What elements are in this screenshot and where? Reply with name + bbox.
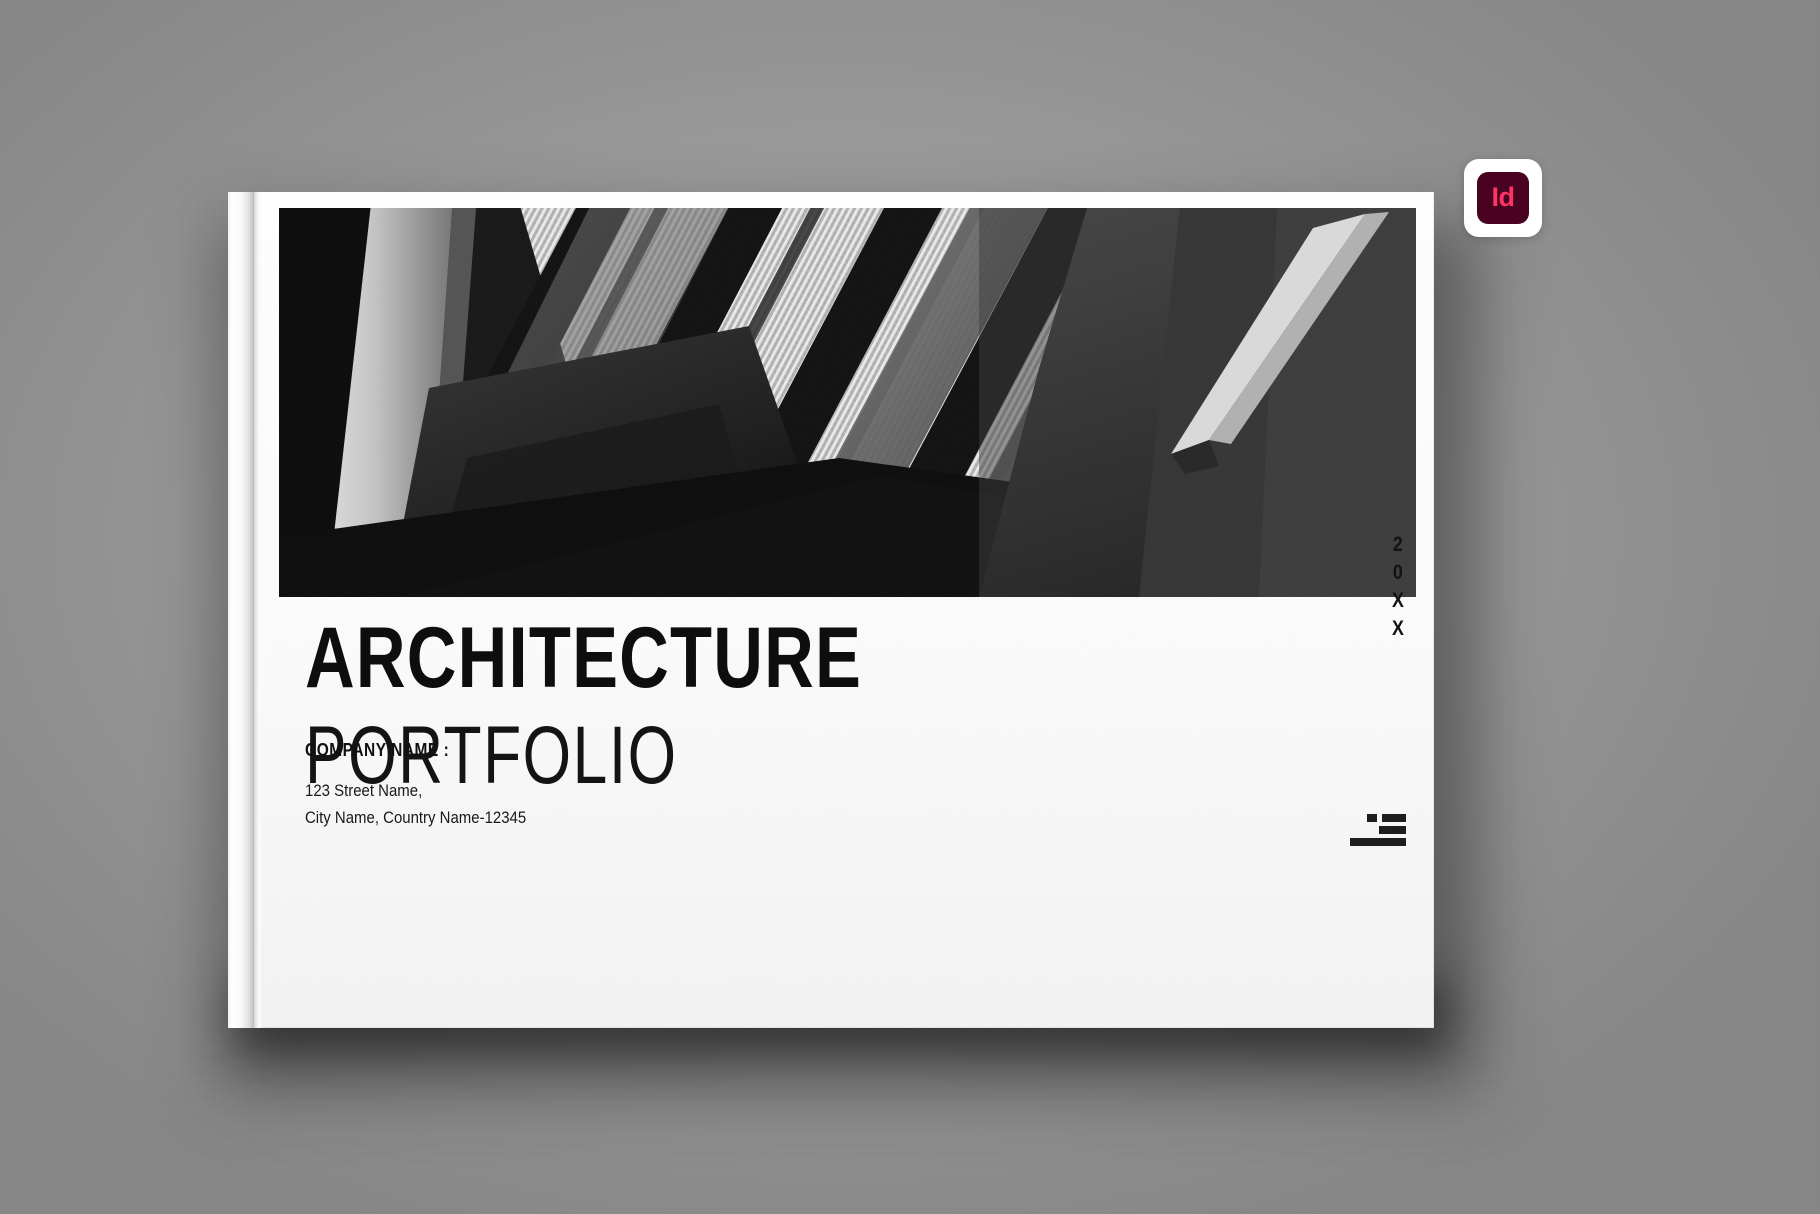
address-line-2: City Name, Country Name-12345 bbox=[305, 804, 526, 832]
logo-row-top bbox=[1350, 814, 1406, 822]
logo-bar-square bbox=[1367, 814, 1377, 822]
logo-bar-small bbox=[1382, 814, 1406, 822]
year-char-0: 2 bbox=[1393, 534, 1403, 555]
skylight-ceiling-photo bbox=[279, 208, 1416, 597]
portfolio-book[interactable]: ARCHITECTURE PORTFOLIO 2 0 X X COMPANY N… bbox=[228, 192, 1434, 1028]
company-address-block: COMPANY NAME : 123 Street Name, City Nam… bbox=[305, 740, 556, 832]
page-title: ARCHITECTURE bbox=[305, 617, 862, 700]
book-spine-fold bbox=[254, 192, 261, 1028]
indesign-icon-label: Id bbox=[1492, 184, 1515, 211]
company-name-label: COMPANY NAME : bbox=[305, 740, 521, 761]
book-spine bbox=[228, 192, 254, 1028]
mockup-canvas: ARCHITECTURE PORTFOLIO 2 0 X X COMPANY N… bbox=[0, 0, 1820, 1214]
year-char-3: X bbox=[1392, 618, 1404, 639]
logo-bar-large bbox=[1350, 838, 1406, 846]
indesign-icon-badge: Id bbox=[1477, 172, 1529, 224]
logo-row-bottom bbox=[1350, 838, 1406, 846]
book-cover[interactable]: ARCHITECTURE PORTFOLIO 2 0 X X COMPANY N… bbox=[261, 192, 1434, 1028]
logo-row-middle bbox=[1350, 826, 1406, 834]
year-stack: 2 0 X X bbox=[1391, 534, 1405, 639]
logo-bar-medium bbox=[1379, 826, 1406, 834]
year-char-2: X bbox=[1392, 590, 1404, 611]
address-line-1: 123 Street Name, bbox=[305, 777, 526, 805]
year-char-1: 0 bbox=[1393, 562, 1403, 583]
stacked-bars-logo bbox=[1350, 814, 1406, 846]
indesign-app-icon[interactable]: Id bbox=[1464, 159, 1542, 237]
